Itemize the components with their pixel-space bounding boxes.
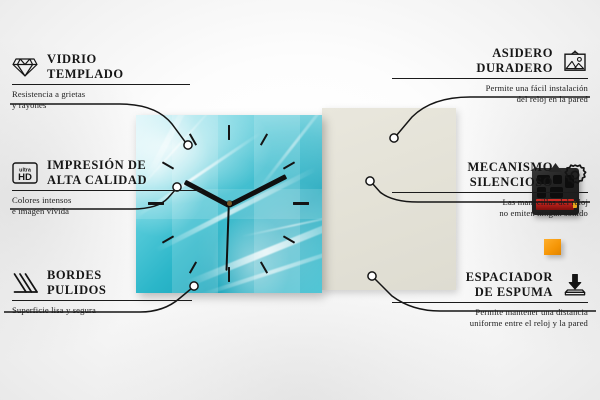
feature-rule (392, 78, 588, 79)
diamond-icon (12, 54, 38, 80)
feature-title: ESPACIADOR DE ESPUMA (466, 270, 553, 299)
feature-description: Superficie lisa y segura (12, 305, 242, 316)
feature-asidero-duradero: ASIDERO DURADERO Permite una fácil insta… (358, 46, 588, 105)
foam-spacer-part (544, 239, 561, 255)
feature-header: BORDES PULIDOS (12, 268, 242, 297)
feature-impresion-alta-calidad: ultra HD IMPRESIÓN DE ALTA CALIDAD Color… (12, 158, 242, 217)
clock-tick-12 (228, 125, 230, 140)
feature-description: Permite una fácil instalación del reloj … (358, 83, 588, 104)
feature-header: VIDRIO TEMPLADO (12, 52, 242, 81)
feature-rule (12, 300, 192, 301)
feature-description: Resistencia a grietas y rayones (12, 89, 242, 110)
feature-vidrio-templado: VIDRIO TEMPLADO Resistencia a grietas y … (12, 52, 242, 111)
gear-icon (562, 162, 588, 188)
feature-title: BORDES PULIDOS (47, 268, 106, 297)
feature-rule (392, 302, 588, 303)
feature-header: MECANISMO SILENCIOSO (358, 160, 588, 189)
ultra-hd-icon: ultra HD (12, 160, 38, 186)
feature-espaciador-de-espuma: ESPACIADOR DE ESPUMA Permite mantener un… (358, 270, 588, 329)
feature-header: ESPACIADOR DE ESPUMA (358, 270, 588, 299)
feature-title: ASIDERO DURADERO (476, 46, 553, 75)
feature-rule (12, 190, 202, 191)
feature-title: VIDRIO TEMPLADO (47, 52, 124, 81)
clock-tick-3 (293, 202, 309, 205)
feature-mecanismo-silencioso: MECANISMO SILENCIOSO Las manecillas del … (358, 160, 588, 219)
feature-title: MECANISMO SILENCIOSO (467, 160, 553, 189)
infographic-canvas: VIDRIO TEMPLADO Resistencia a grietas y … (0, 0, 600, 400)
wall-hanger-icon (562, 48, 588, 74)
feature-header: ultra HD IMPRESIÓN DE ALTA CALIDAD (12, 158, 242, 187)
feature-rule (392, 192, 588, 193)
feature-bordes-pulidos: BORDES PULIDOS Superficie lisa y segura (12, 268, 242, 316)
feature-header: ASIDERO DURADERO (358, 46, 588, 75)
feature-description: Permite mantener una distancia uniforme … (358, 307, 588, 328)
svg-text:HD: HD (18, 172, 32, 183)
foam-spacer-icon (562, 272, 588, 298)
polished-edges-icon (12, 270, 38, 296)
feature-title: IMPRESIÓN DE ALTA CALIDAD (47, 158, 147, 187)
feature-description: Las manecillas del reloj no emiten ningú… (358, 197, 588, 218)
feature-description: Colores intensos e imagen vívida (12, 195, 242, 216)
feature-rule (12, 84, 190, 85)
